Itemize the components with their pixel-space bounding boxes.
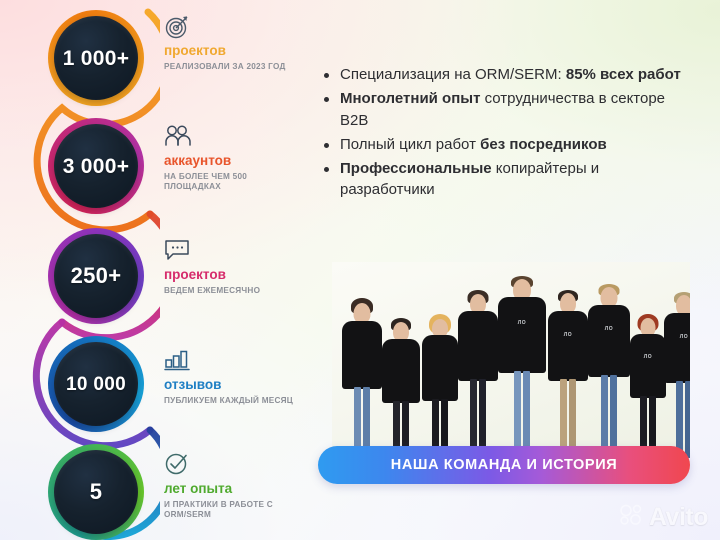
bullet-1-strong: 85% всех работ bbox=[566, 66, 681, 83]
team-member-1 bbox=[340, 298, 384, 458]
stat-node-5: 5 bbox=[48, 444, 144, 540]
stat-value-5: 5 bbox=[90, 481, 103, 503]
stat-text-4: отзывов ПУБЛИКУЕМ КАЖДЫЙ МЕСЯЦ bbox=[164, 348, 300, 406]
team-member-2 bbox=[380, 308, 422, 458]
stat-node-4: 10 000 bbox=[48, 336, 144, 432]
stat-value-3: 250+ bbox=[71, 265, 122, 287]
stat-sublabel-2: НА БОЛЕЕ ЧЕМ 500 ПЛОЩАДКАХ bbox=[164, 172, 300, 193]
stat-core-1: 1 000+ bbox=[54, 16, 138, 100]
bullet-item-4: Профессиональные копирайтеры и разработч… bbox=[318, 158, 690, 202]
stat-text-2: аккаунтов НА БОЛЕЕ ЧЕМ 500 ПЛОЩАДКАХ bbox=[164, 124, 300, 193]
chat-bubble-icon bbox=[164, 238, 300, 264]
bullet-1-pre: Специализация на ORM/SERM: bbox=[340, 66, 566, 83]
hoodie-logo-2: ЛО bbox=[564, 332, 572, 338]
stat-core-5: 5 bbox=[54, 450, 138, 534]
avito-watermark-text: Avito bbox=[649, 503, 708, 532]
team-member-7: ЛО bbox=[586, 282, 632, 458]
bullet-item-2: Многолетний опыт сотрудничества в сектор… bbox=[318, 88, 690, 132]
stat-text-3: проектов ВЕДЕМ ЕЖЕМЕСЯЧНО bbox=[164, 238, 300, 296]
people-icon bbox=[164, 124, 300, 150]
stat-text-5: лет опыта И ПРАКТИКИ В РАБОТЕ С ORM/SERM bbox=[164, 452, 300, 521]
team-member-3 bbox=[420, 306, 460, 458]
stat-text-1: проектов РЕАЛИЗОВАЛИ ЗА 2023 ГОД bbox=[164, 14, 300, 72]
team-photo: ЛО ЛО ЛО ЛО bbox=[332, 262, 690, 458]
check-circle-icon bbox=[164, 452, 300, 478]
stat-label-5: лет опыта bbox=[164, 482, 300, 497]
team-member-4 bbox=[456, 290, 500, 458]
stat-sublabel-3: ВЕДЕМ ЕЖЕМЕСЯЧНО bbox=[164, 286, 300, 297]
hoodie-logo-3: ЛО bbox=[605, 326, 613, 332]
stat-core-3: 250+ bbox=[54, 234, 138, 318]
bullet-item-1: Специализация на ORM/SERM: 85% всех рабо… bbox=[318, 64, 690, 86]
avito-dots-icon bbox=[619, 504, 645, 531]
avito-watermark: Avito bbox=[619, 503, 708, 532]
stat-value-1: 1 000+ bbox=[63, 48, 130, 69]
stat-core-2: 3 000+ bbox=[54, 124, 138, 208]
bullet-3-pre: Полный цикл работ bbox=[340, 136, 480, 153]
bullet-3-strong: без посредников bbox=[480, 136, 607, 153]
team-member-6: ЛО bbox=[546, 286, 590, 458]
stat-core-4: 10 000 bbox=[54, 342, 138, 426]
hoodie-logo-5: ЛО bbox=[680, 334, 688, 340]
stat-label-4: отзывов bbox=[164, 378, 300, 393]
bullet-2-strong: Многолетний опыт bbox=[340, 90, 480, 107]
stat-node-2: 3 000+ bbox=[48, 118, 144, 214]
stat-value-2: 3 000+ bbox=[63, 156, 130, 177]
stat-node-1: 1 000+ bbox=[48, 10, 144, 106]
hoodie-logo-4: ЛО bbox=[644, 354, 652, 360]
cta-label: НАША КОМАНДА И ИСТОРИЯ bbox=[391, 457, 617, 473]
stat-sublabel-5: И ПРАКТИКИ В РАБОТЕ С ORM/SERM bbox=[164, 500, 300, 521]
team-member-9: ЛО bbox=[662, 288, 690, 458]
hoodie-logo-1: ЛО bbox=[518, 320, 526, 326]
stat-label-1: проектов bbox=[164, 44, 300, 59]
target-icon bbox=[164, 14, 300, 40]
team-member-5: ЛО bbox=[496, 276, 548, 458]
stats-ribbon-column: 1 000+ 3 000+ 250+ 10 000 bbox=[0, 0, 160, 540]
bar-chart-icon bbox=[164, 348, 300, 374]
stat-sublabel-1: РЕАЛИЗОВАЛИ ЗА 2023 ГОД bbox=[164, 62, 300, 73]
stat-label-2: аккаунтов bbox=[164, 154, 300, 169]
stat-label-3: проектов bbox=[164, 268, 300, 283]
stat-value-4: 10 000 bbox=[66, 375, 126, 394]
team-history-cta-button[interactable]: НАША КОМАНДА И ИСТОРИЯ bbox=[318, 446, 690, 484]
bullet-4-strong: Профессиональные bbox=[340, 160, 492, 177]
promo-slide: 1 000+ 3 000+ 250+ 10 000 bbox=[0, 0, 720, 540]
benefits-list: Специализация на ORM/SERM: 85% всех рабо… bbox=[318, 64, 690, 203]
stat-sublabel-4: ПУБЛИКУЕМ КАЖДЫЙ МЕСЯЦ bbox=[164, 396, 300, 407]
stat-node-3: 250+ bbox=[48, 228, 144, 324]
bullet-item-3: Полный цикл работ без посредников bbox=[318, 134, 690, 156]
